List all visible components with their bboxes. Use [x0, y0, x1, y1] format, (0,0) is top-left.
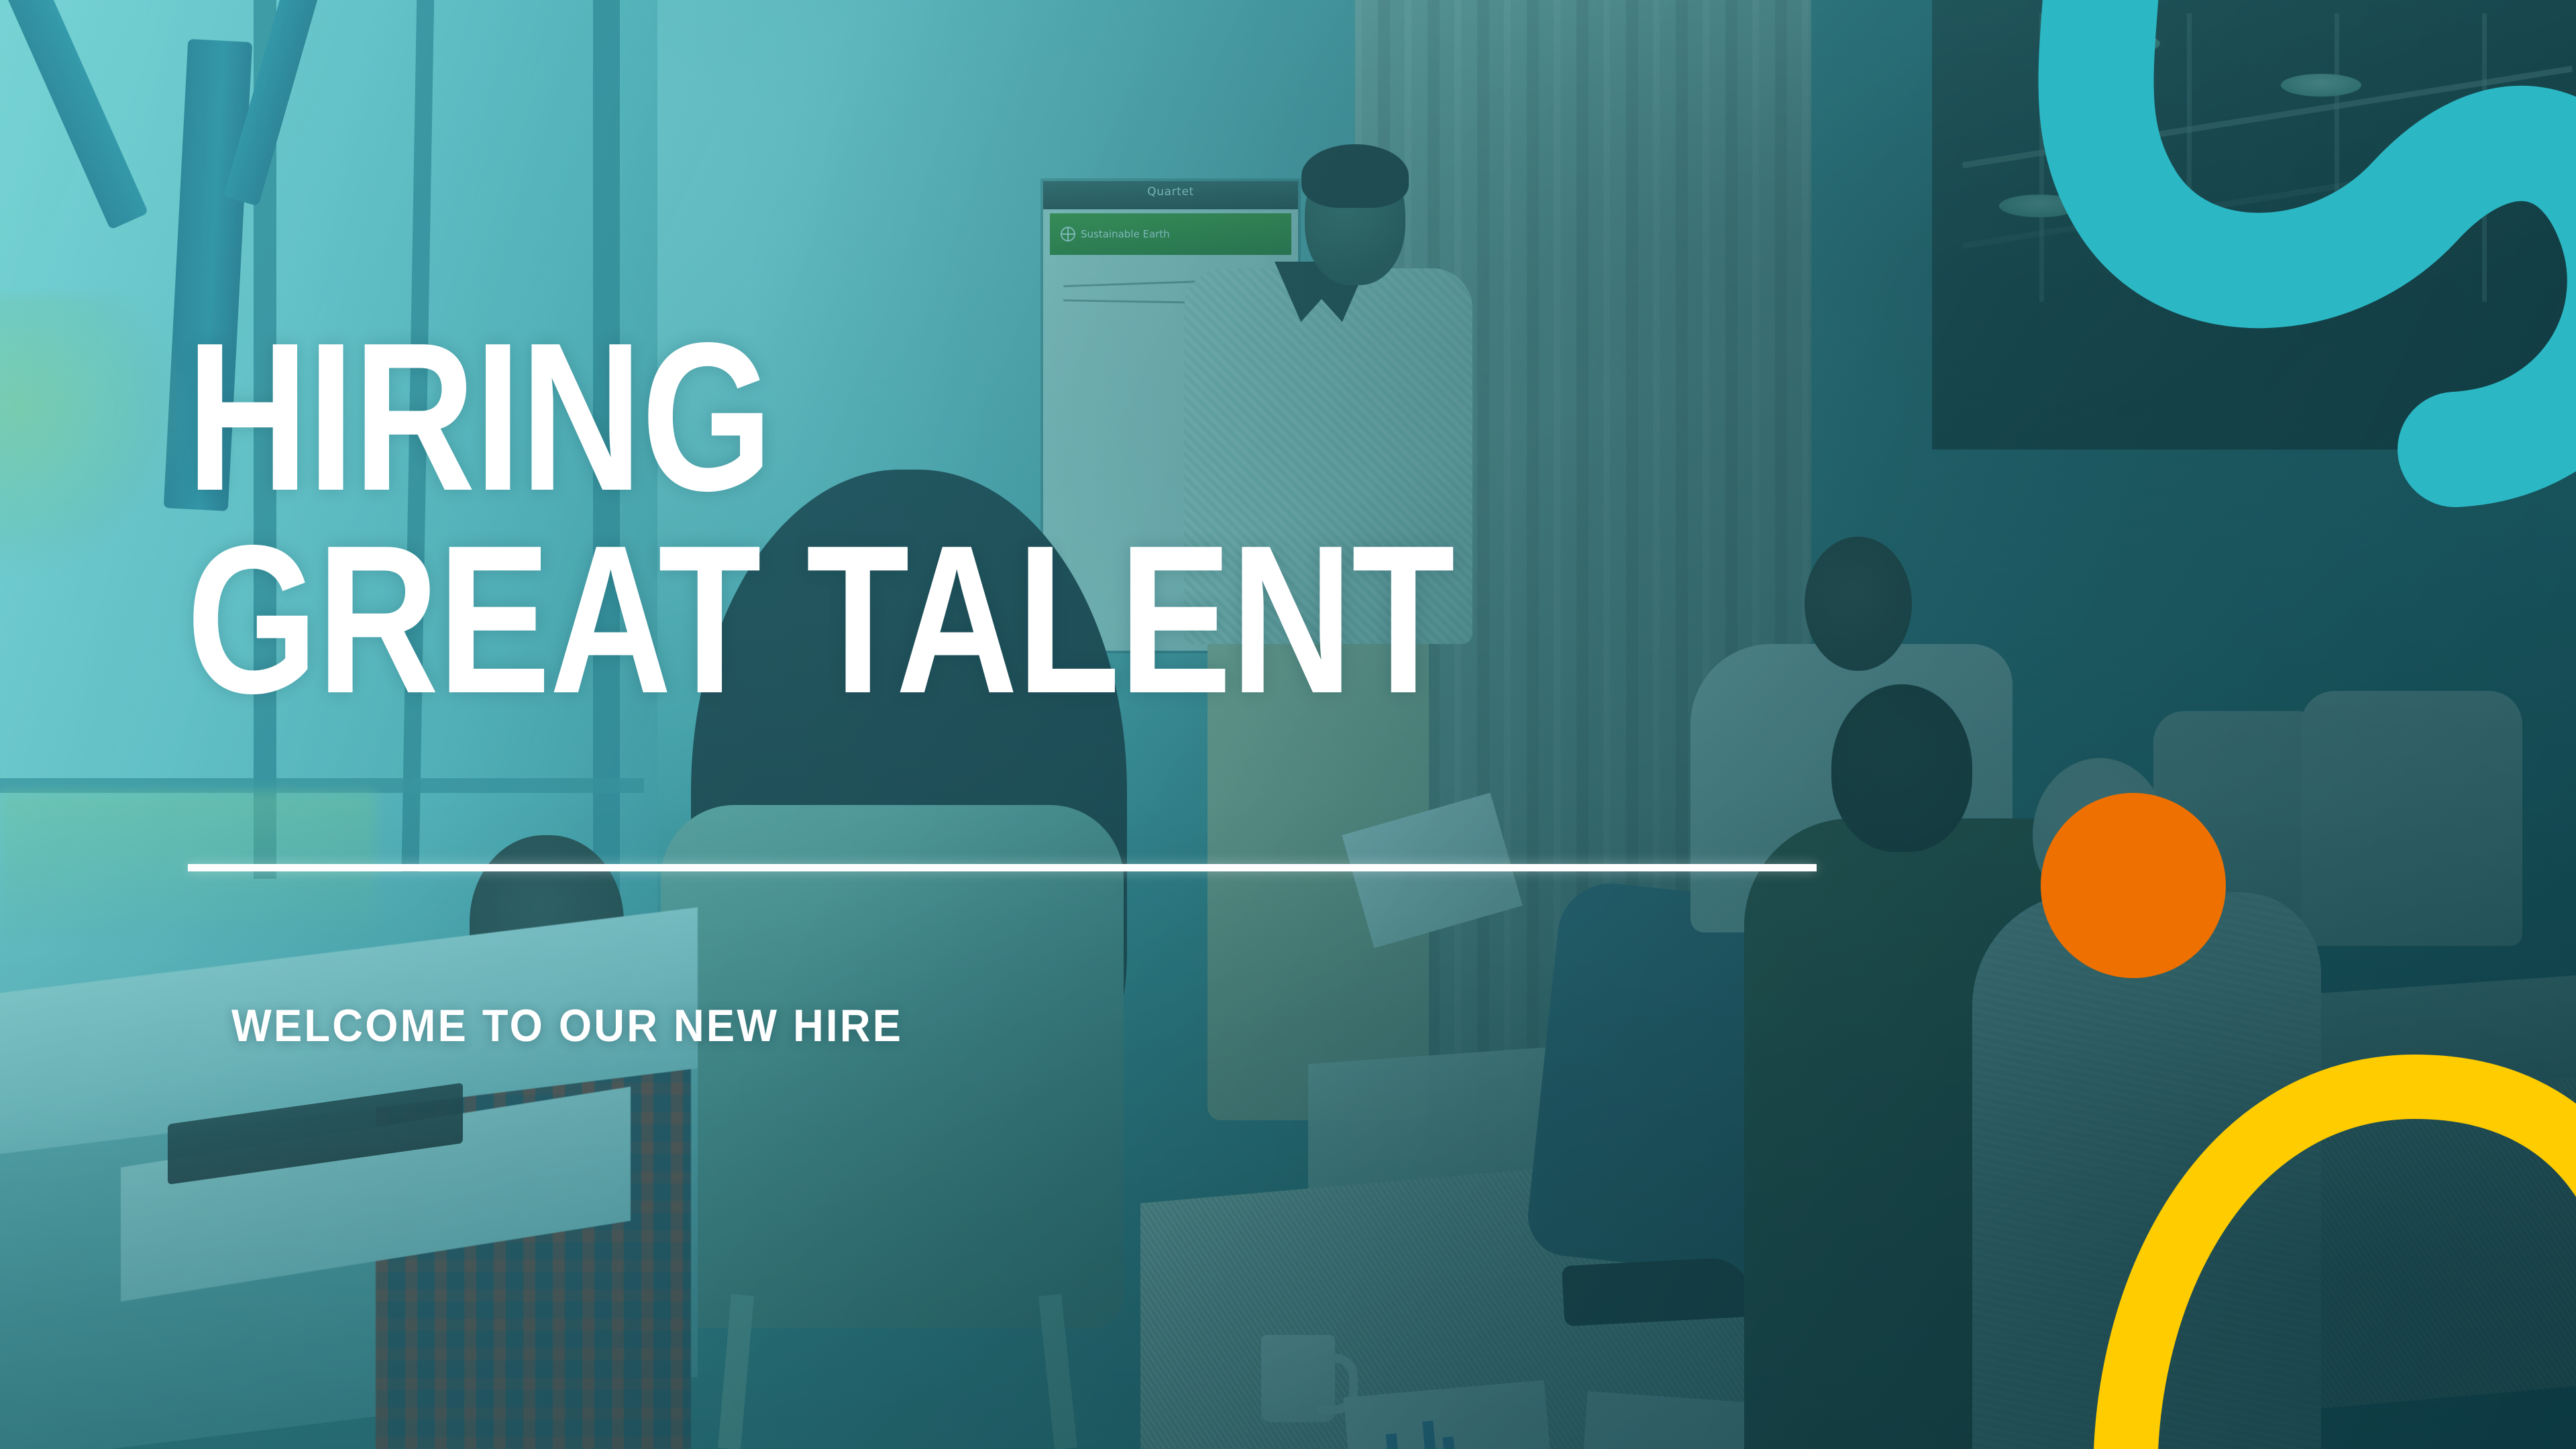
hiring-banner: Quartet Sustainable Earth: [0, 0, 2576, 1449]
page-title: HIRINGGREAT TALENT: [186, 315, 1454, 721]
headline-line-2: GREAT TALENT: [186, 518, 1454, 720]
divider-rule: [188, 864, 1817, 871]
headline-line-1: HIRING: [186, 299, 771, 535]
banner-subtitle: WELCOME TO OUR NEW HIRE: [231, 1000, 903, 1052]
banner-content: HIRINGGREAT TALENT WELCOME TO OUR NEW HI…: [0, 0, 2576, 1449]
